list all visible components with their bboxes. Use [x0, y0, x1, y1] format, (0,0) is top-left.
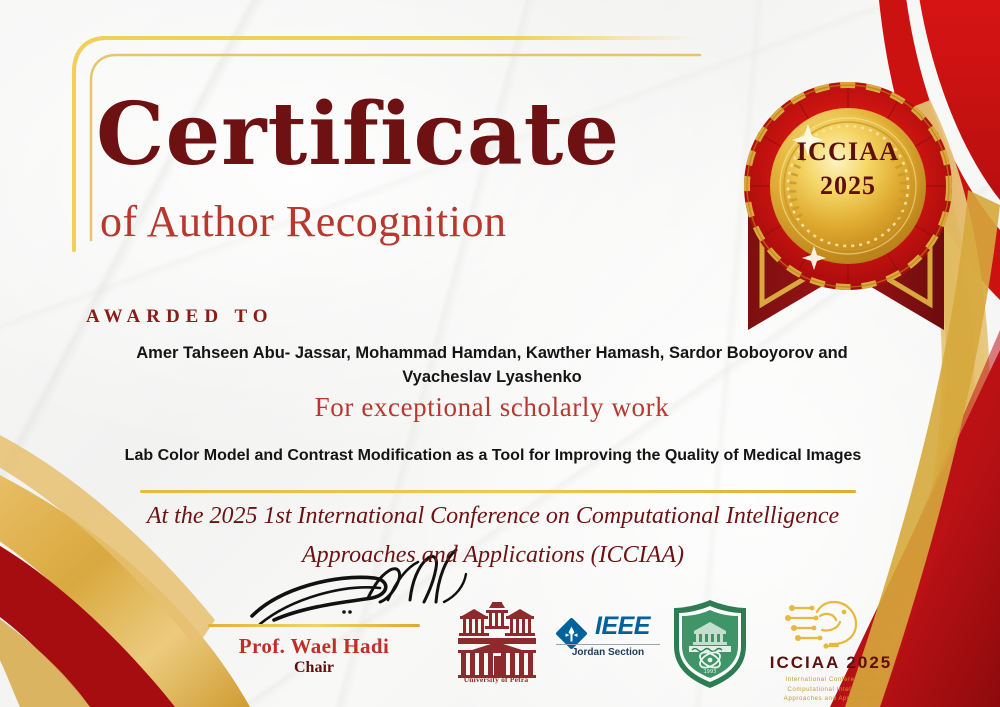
page-subtitle: of Author Recognition — [100, 196, 506, 247]
icciaa-sub-line-3: Approaches and Applications — [758, 694, 904, 704]
logo-zaytoonah-university — [668, 594, 752, 686]
seal-acronym: ICCIAA — [797, 137, 900, 167]
conference-name: At the 2025 1st International Conference… — [90, 497, 896, 575]
icciaa-sub-line-1: International Conference on — [758, 675, 904, 685]
logo-icciaa-2025: ICCIAA 2025 International Conference on … — [758, 596, 904, 704]
certificate-page: 1993 — [0, 0, 1000, 707]
paper-title: Lab Color Model and Contrast Modificatio… — [90, 444, 896, 468]
icciaa-wordmark: ICCIAA 2025 — [758, 653, 904, 673]
awarded-to-label: AWARDED TO — [86, 306, 274, 328]
signature-block: Prof. Wael Hadi Chair — [196, 566, 432, 677]
ieee-section-label: Jordan Section — [552, 647, 664, 658]
award-seal: ICCIAA 2025 — [714, 36, 982, 336]
page-title: Certificate — [96, 92, 620, 178]
petra-logo-caption: University of Petra — [448, 675, 544, 684]
signature-mark-spacer — [196, 566, 432, 622]
signatory-name: Prof. Wael Hadi — [196, 634, 432, 659]
gold-divider — [140, 490, 856, 493]
recipient-names: Amer Tahseen Abu- Jassar, Mohammad Hamda… — [96, 342, 888, 390]
citation-text: For exceptional scholarly work — [96, 392, 888, 423]
sponsor-logo-row: University of Petra IEEE Jordan Section … — [440, 590, 910, 698]
signatory-role: Chair — [196, 659, 432, 677]
icciaa-sub-line-2: Computational Intelligence — [758, 685, 904, 695]
ieee-wordmark: IEEE — [595, 612, 650, 641]
signature-rule — [208, 624, 420, 627]
seal-year: 2025 — [820, 171, 876, 201]
ieee-rule — [556, 644, 660, 645]
logo-ieee-jordan-section: IEEE Jordan Section — [552, 612, 664, 658]
logo-university-of-petra: University of Petra — [448, 594, 544, 684]
